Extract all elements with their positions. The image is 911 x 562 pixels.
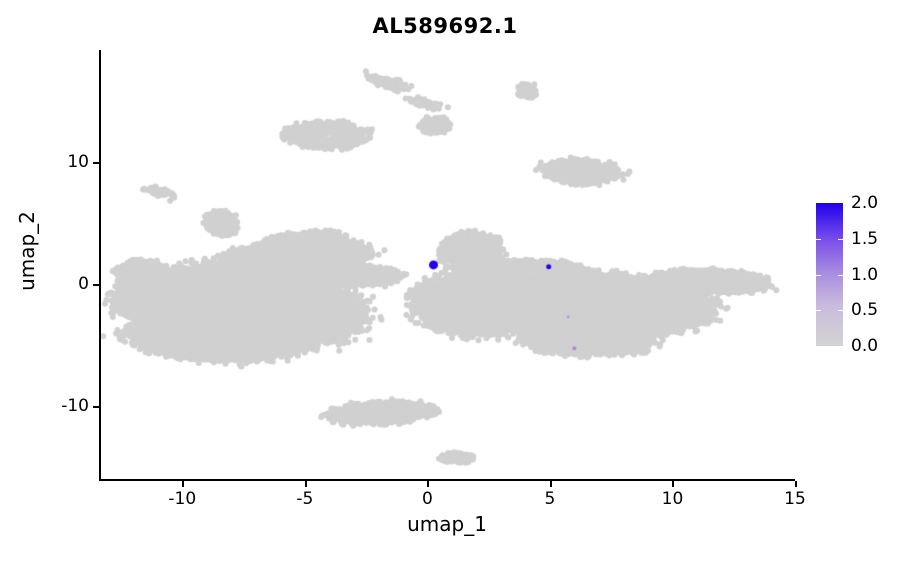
colorbar-tick-mark — [838, 310, 843, 311]
y-tick-label: 0 — [78, 274, 89, 294]
x-tick-label: -10 — [168, 489, 196, 509]
colorbar-tick-mark — [816, 275, 821, 276]
y-tick-label: 10 — [67, 152, 89, 172]
x-tick-mark — [427, 481, 429, 487]
x-axis-spine — [99, 479, 795, 481]
y-tick-mark — [93, 162, 99, 164]
x-tick-mark — [550, 481, 552, 487]
x-tick-mark — [795, 481, 797, 487]
colorbar — [816, 203, 843, 346]
page-title: AL589692.1 — [0, 14, 890, 38]
x-tick-label: -5 — [296, 489, 313, 509]
colorbar-tick-label: 0.0 — [851, 336, 878, 356]
scatter-plot-canvas — [99, 50, 795, 481]
colorbar-tick-label: 0.5 — [851, 300, 878, 320]
umap-feature-plot-figure: AL589692.1 -10-5051015 100-10 umap_1 uma… — [0, 0, 911, 562]
x-tick-mark — [672, 481, 674, 487]
x-axis-label: umap_1 — [99, 512, 795, 536]
colorbar-tick-mark — [816, 310, 821, 311]
y-axis-spine — [99, 50, 101, 481]
colorbar-tick-label: 1.5 — [851, 229, 878, 249]
y-tick-label: -10 — [61, 396, 89, 416]
y-axis-ticks: 100-10 — [0, 0, 89, 562]
colorbar-tick-mark — [838, 239, 843, 240]
colorbar-tick-mark — [838, 275, 843, 276]
colorbar-tick-label: 2.0 — [851, 193, 878, 213]
x-tick-mark — [182, 481, 184, 487]
colorbar-tick-mark — [816, 239, 821, 240]
y-axis-label: umap_2 — [15, 191, 39, 311]
x-tick-label: 5 — [545, 489, 556, 509]
x-tick-label: 10 — [662, 489, 684, 509]
colorbar-tick-label: 1.0 — [851, 265, 878, 285]
x-tick-label: 15 — [784, 489, 806, 509]
y-tick-mark — [93, 406, 99, 408]
y-tick-mark — [93, 284, 99, 286]
x-tick-label: 0 — [422, 489, 433, 509]
x-tick-mark — [305, 481, 307, 487]
